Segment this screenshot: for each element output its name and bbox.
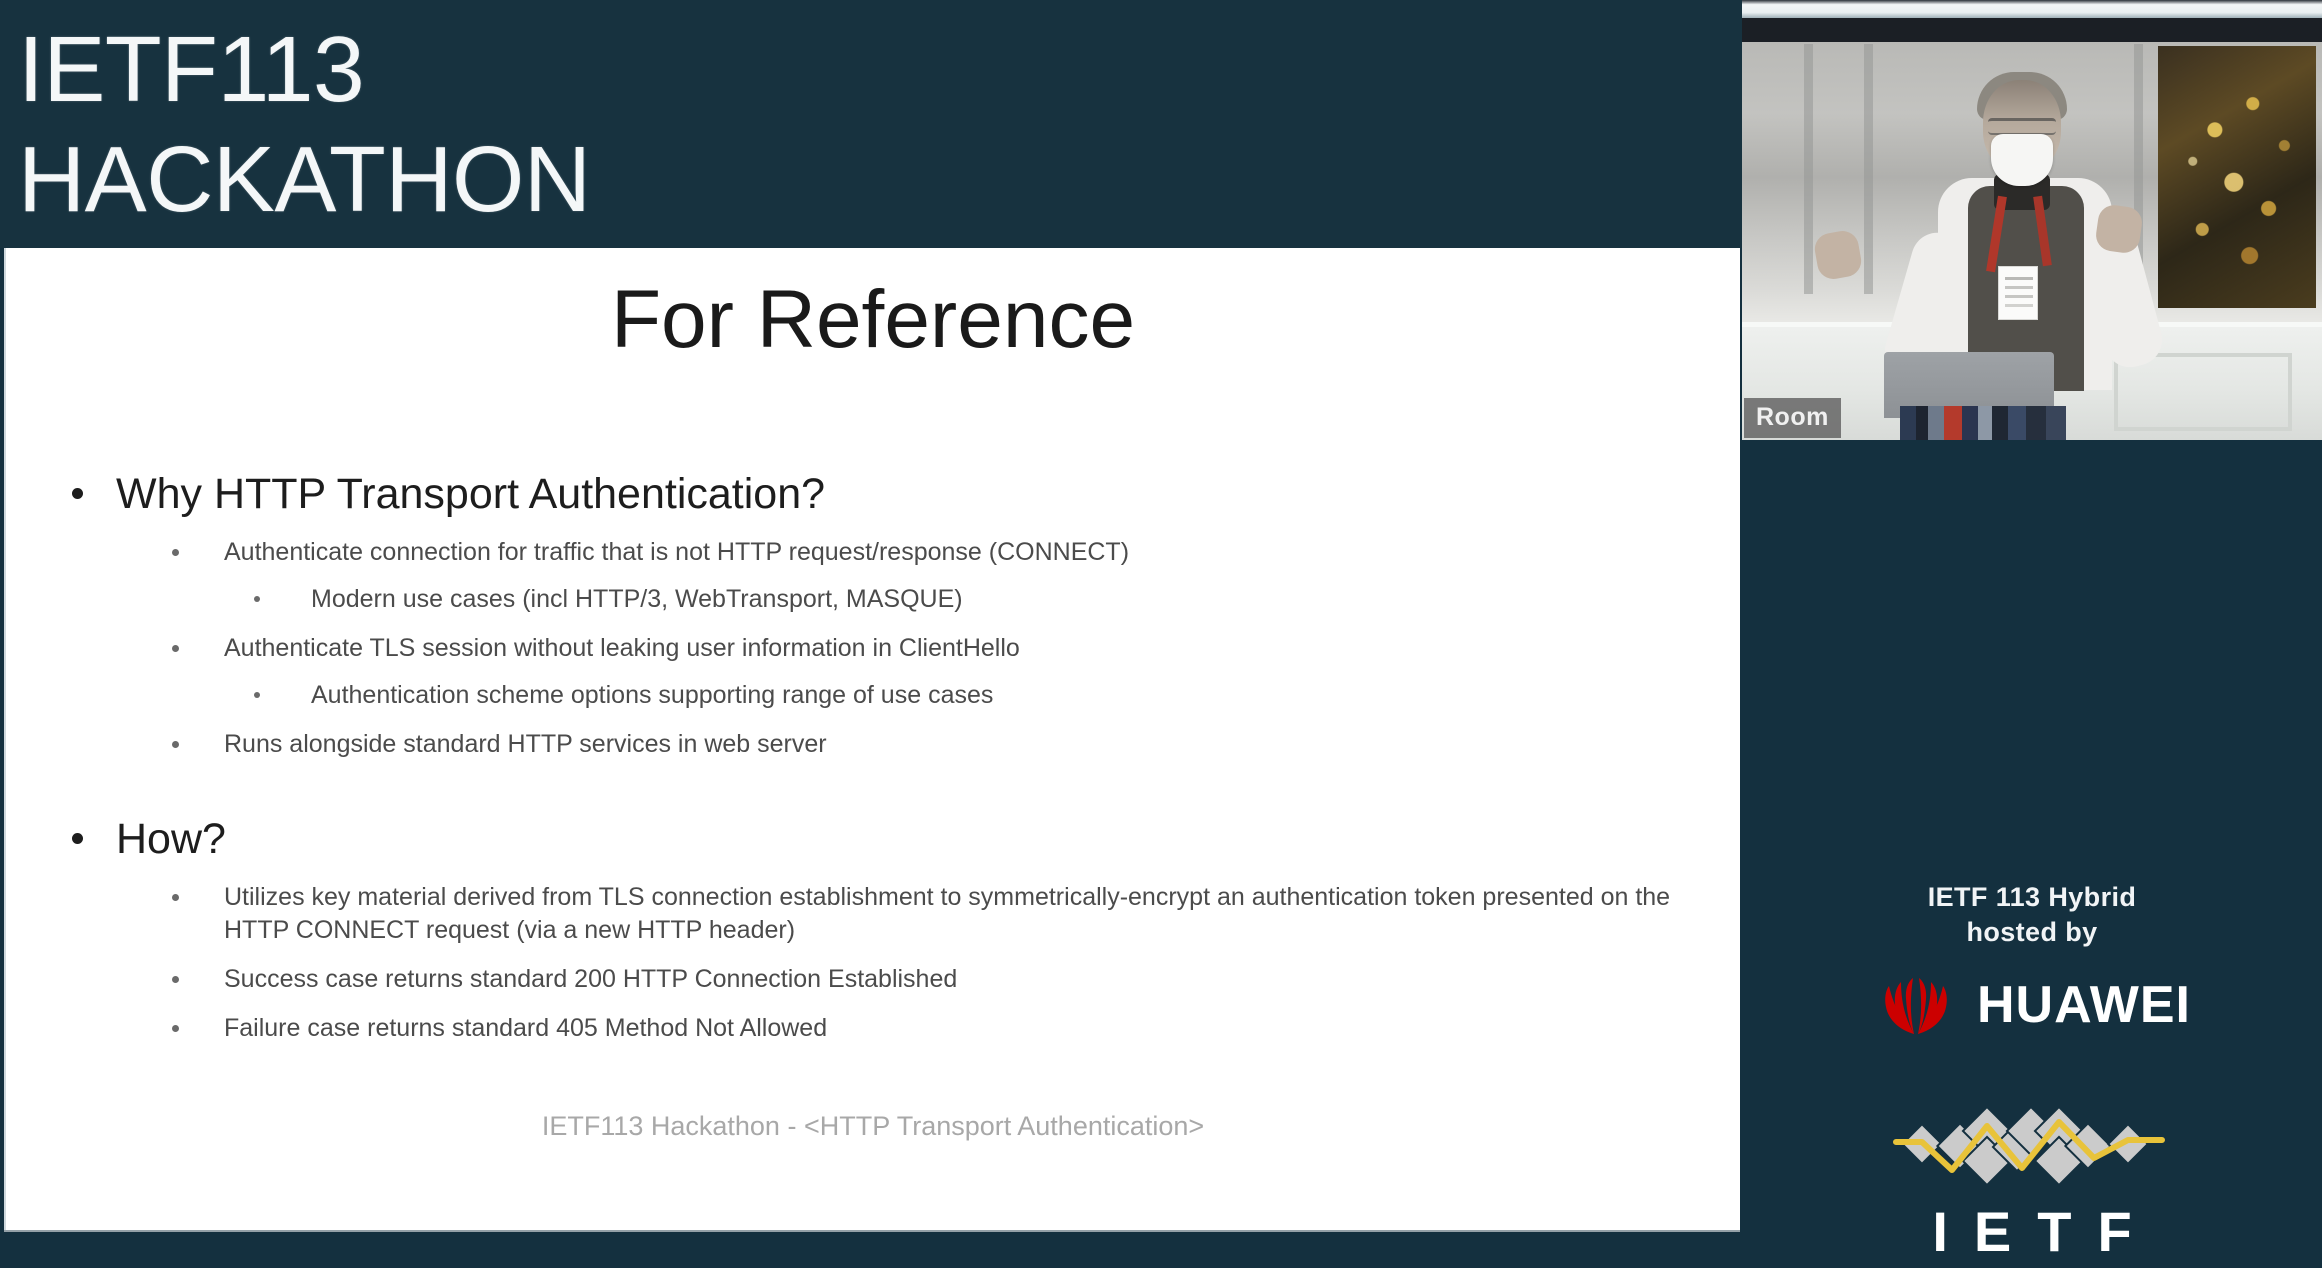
bullet-level2-text: Success case returns standard 200 HTTP C… (224, 965, 957, 993)
side-panel: Room IETF 113 Hybrid hosted by HUAWEI (1742, 0, 2322, 1268)
video-top-strip (1742, 0, 2322, 18)
slide-body: Why HTTP Transport Authentication? Authe… (64, 468, 1700, 1045)
meeting-stage: IETF113 HACKATHON For Reference Why HTTP… (0, 0, 2322, 1268)
deck-header-line1: IETF113 (18, 14, 1742, 124)
sponsor-block: IETF 113 Hybrid hosted by HUAWEI (1742, 880, 2322, 1036)
block-spacer (64, 761, 1700, 813)
bullet-dot-icon (172, 976, 179, 983)
slide-title: For Reference (6, 272, 1740, 368)
deck-header-banner: IETF113 HACKATHON (0, 0, 1742, 248)
podium-microphones (1900, 406, 2066, 440)
presentation-pane: IETF113 HACKATHON For Reference Why HTTP… (0, 0, 1742, 1268)
slide-block: How? Utilizes key material derived from … (64, 813, 1700, 1045)
sponsor-host-line1: IETF 113 Hybrid (1742, 880, 2322, 915)
slide-canvas: For Reference Why HTTP Transport Authent… (4, 248, 1740, 1230)
bullet-level1: Why HTTP Transport Authentication? (64, 468, 1700, 520)
bullet-level3-text: Modern use cases (incl HTTP/3, WebTransp… (311, 585, 963, 613)
speaker-face-mask (1991, 134, 2053, 186)
bullet-level3: Authentication scheme options supporting… (64, 679, 1700, 712)
slide-footer: IETF113 Hackathon - <HTTP Transport Auth… (6, 1110, 1740, 1142)
bullet-level2-text: Failure case returns standard 405 Method… (224, 1014, 827, 1042)
bullet-dot-icon (172, 1025, 179, 1032)
ietf-logo: IETF (1742, 1096, 2322, 1261)
speaker-glasses-icon (1988, 118, 2056, 135)
deck-header-line2: HACKATHON (18, 124, 1742, 234)
speaker-video-feed[interactable]: Room (1742, 18, 2322, 440)
bullet-level2-text: Authenticate connection for traffic that… (224, 538, 1129, 566)
wall-tapestry (2158, 46, 2316, 308)
ietf-diamonds-icon (1882, 1096, 2182, 1192)
sponsor-host-line2: hosted by (1742, 915, 2322, 950)
bullet-level2: Authenticate connection for traffic that… (64, 536, 1700, 569)
window-mullion-icon (1804, 44, 1813, 294)
bullet-dot-icon (72, 833, 83, 844)
bullet-level3: Modern use cases (incl HTTP/3, WebTransp… (64, 583, 1700, 616)
bullet-dot-icon (172, 894, 179, 901)
bullet-level2: Authenticate TLS session without leaking… (64, 632, 1700, 665)
huawei-flower-icon (1873, 974, 1959, 1036)
window-mullion-icon (1864, 44, 1873, 294)
ietf-wordmark: IETF (1742, 1203, 2322, 1261)
bullet-level2-text: Utilizes key material derived from TLS c… (224, 883, 1670, 944)
bullet-level2: Utilizes key material derived from TLS c… (64, 881, 1700, 947)
bullet-dot-icon (172, 741, 179, 748)
bullet-dot-icon (172, 645, 179, 652)
bullet-level2-text: Authenticate TLS session without leaking… (224, 634, 1020, 662)
bullet-level2: Runs alongside standard HTTP services in… (64, 728, 1700, 761)
speaker-badge (1998, 266, 2038, 320)
bullet-dot-icon (254, 596, 260, 602)
bullet-dot-icon (172, 549, 179, 556)
bullet-level1: How? (64, 813, 1700, 865)
huawei-logo: HUAWEI (1742, 974, 2322, 1036)
bullet-level2: Failure case returns standard 405 Method… (64, 1012, 1700, 1045)
room-label: Room (1744, 398, 1841, 438)
bullet-level1-text: Why HTTP Transport Authentication? (116, 470, 825, 518)
bullet-level3-text: Authentication scheme options supporting… (311, 681, 993, 709)
bullet-dot-icon (72, 488, 83, 499)
bullet-level2-text: Runs alongside standard HTTP services in… (224, 730, 827, 758)
slide-block: Why HTTP Transport Authentication? Authe… (64, 468, 1700, 761)
bullet-dot-icon (254, 692, 260, 698)
bullet-level1-text: How? (116, 815, 226, 863)
huawei-wordmark: HUAWEI (1977, 978, 2191, 1032)
bullet-level2: Success case returns standard 200 HTTP C… (64, 963, 1700, 996)
